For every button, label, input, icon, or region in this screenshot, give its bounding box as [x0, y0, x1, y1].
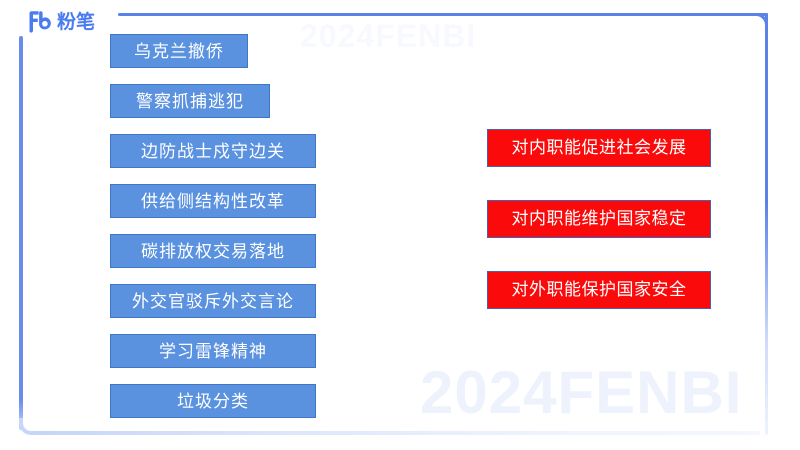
slide-canvas: 2024FENBI 2024FENBI 粉笔 乌克兰撤侨 警察抓捕逃犯 边防战士…	[0, 0, 800, 450]
category-box[interactable]: 对内职能促进社会发展	[487, 129, 711, 167]
brand-logo-text: 粉笔	[57, 13, 95, 32]
list-item[interactable]: 垃圾分类	[110, 384, 316, 418]
frame-right-line	[765, 13, 768, 435]
brand-logo: 粉笔	[27, 9, 95, 35]
list-item[interactable]: 警察抓捕逃犯	[110, 84, 270, 118]
watermark-top: 2024FENBI	[300, 18, 476, 55]
fb-logo-icon	[27, 10, 53, 34]
list-item[interactable]: 学习雷锋精神	[110, 334, 316, 368]
category-box[interactable]: 对外职能保护国家安全	[487, 271, 711, 309]
watermark-main: 2024FENBI	[420, 358, 742, 427]
list-item[interactable]: 边防战士戍守边关	[110, 134, 316, 168]
concept-example-list: 乌克兰撤侨 警察抓捕逃犯 边防战士戍守边关 供给侧结构性改革 碳排放权交易落地 …	[110, 34, 316, 434]
list-item[interactable]: 碳排放权交易落地	[110, 234, 316, 268]
list-item[interactable]: 乌克兰撤侨	[110, 34, 248, 68]
category-box[interactable]: 对内职能维护国家稳定	[487, 200, 711, 238]
list-item[interactable]: 外交官驳斥外交言论	[110, 284, 316, 318]
frame-left-line	[19, 36, 23, 426]
frame-top-line	[118, 13, 768, 16]
list-item[interactable]: 供给侧结构性改革	[110, 184, 316, 218]
